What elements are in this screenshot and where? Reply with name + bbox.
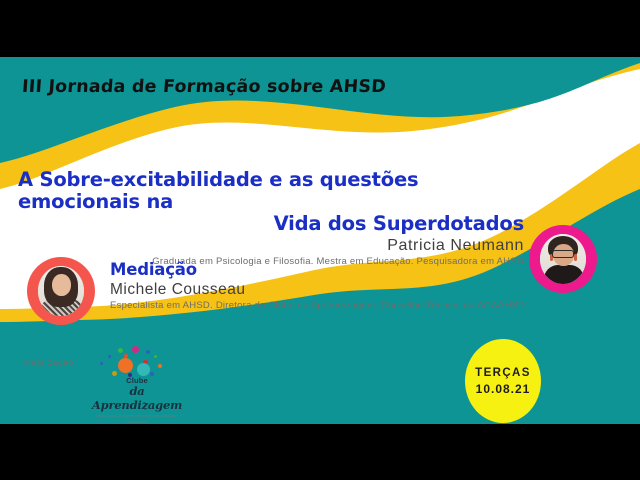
- logo-dot-10: [158, 364, 162, 368]
- clube-da-aprendizagem-logo: Clube da Aprendizagem Centro para o dese…: [88, 346, 186, 406]
- logo-dot-9: [137, 363, 150, 376]
- letterbox-bottom: [0, 424, 640, 480]
- speaker-photo: [540, 234, 586, 284]
- talk-title: A Sobre-excitabilidade e as questões emo…: [18, 169, 524, 235]
- video-frame: III Jornada de Formação sobre AHSD A Sob…: [0, 0, 640, 480]
- logo-dot-7: [100, 362, 103, 365]
- moderator-avatar: [27, 257, 95, 325]
- speaker-avatar: [529, 225, 597, 293]
- date-weekday: TERÇAS: [475, 367, 531, 379]
- date-value: 10.08.21: [476, 382, 531, 396]
- event-title: III Jornada de Formação sobre AHSD: [21, 77, 386, 97]
- logo-dot-2: [146, 350, 150, 354]
- logo-dots-icon: [88, 346, 186, 380]
- talk-title-line2: Vida dos Superdotados: [18, 213, 524, 235]
- talk-title-line1: A Sobre-excitabilidade e as questões emo…: [18, 169, 524, 213]
- talk-title-block: A Sobre-excitabilidade e as questões emo…: [18, 169, 524, 267]
- logo-tagline: Centro para o desenvolvimento de talento…: [88, 413, 186, 424]
- speaker-torso: [544, 265, 584, 284]
- mediation-block: Mediação Michele Cousseau Especialista e…: [110, 260, 525, 311]
- moderator-photo: [38, 266, 84, 316]
- date-badge: TERÇAS 10.08.21: [465, 339, 541, 423]
- logo-dot-1: [132, 346, 139, 353]
- speaker-name: Patricia Neumann: [18, 237, 524, 255]
- realization-label: Realização: [24, 357, 74, 367]
- logo-wordmark: Clube da Aprendizagem Centro para o dese…: [88, 376, 186, 424]
- logo-line2: da Aprendizagem: [88, 384, 186, 412]
- presentation-slide: III Jornada de Formação sobre AHSD A Sob…: [0, 57, 640, 424]
- mediation-label: Mediação: [110, 260, 525, 279]
- moderator-face: [52, 274, 71, 296]
- moderator-credentials: Especialista em AHSD. Diretora do Clube …: [110, 300, 525, 311]
- logo-dot-5: [154, 355, 157, 358]
- logo-dot-3: [108, 355, 111, 358]
- speaker-glasses: [552, 250, 574, 258]
- speaker-earring-right: [574, 254, 577, 261]
- letterbox-top: [0, 0, 640, 57]
- logo-dot-6: [118, 358, 133, 373]
- moderator-name: Michele Cousseau: [110, 281, 525, 299]
- logo-dot-0: [118, 348, 123, 353]
